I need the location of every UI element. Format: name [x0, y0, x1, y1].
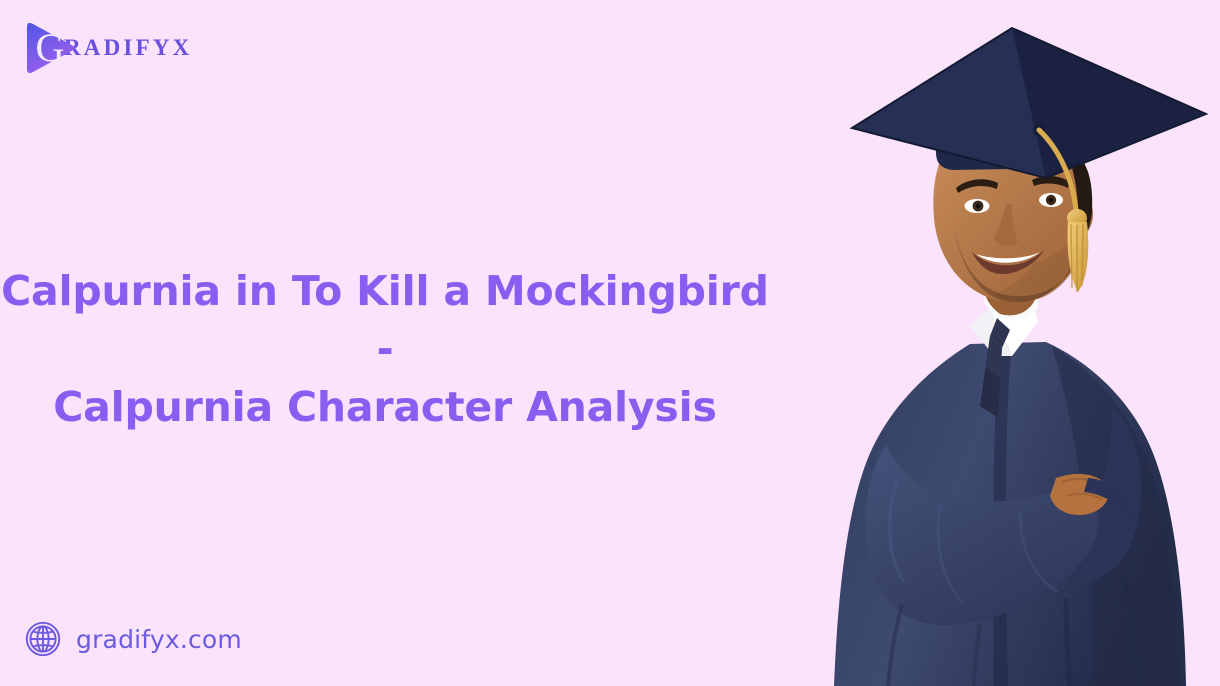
brand-mark-letter: G [18, 18, 80, 78]
article-banner: G RADIFYX Calpurnia in To Kill a Mocking… [0, 0, 1220, 686]
brand-logo[interactable]: G RADIFYX [18, 16, 192, 80]
graduate-photo [794, 26, 1220, 686]
globe-icon [24, 620, 62, 658]
page-title-line-2: Calpurnia Character Analysis [0, 378, 770, 436]
play-triangle-logo-icon: G [18, 18, 80, 78]
page-title-line-1: Calpurnia in To Kill a Mockingbird - [0, 262, 770, 378]
site-url[interactable]: gradifyx.com [76, 625, 242, 654]
brand-wordmark: RADIFYX [64, 35, 192, 61]
site-footer[interactable]: gradifyx.com [24, 620, 242, 658]
page-title: Calpurnia in To Kill a Mockingbird - Cal… [0, 262, 770, 437]
